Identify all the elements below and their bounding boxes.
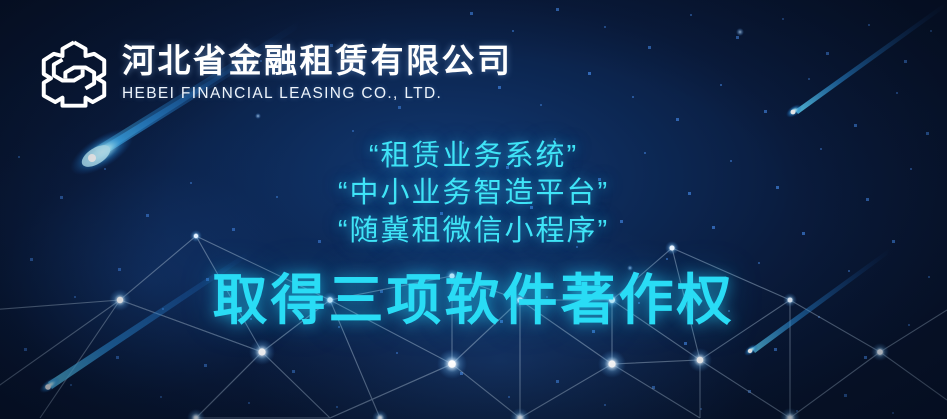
headline-block: “租赁业务系统” “中小业务智造平台” “随冀租微信小程序” 取得三项软件著作权 xyxy=(0,138,947,330)
promo-banner: 河北省金融租赁有限公司 HEBEI FINANCIAL LEASING CO.,… xyxy=(0,0,947,419)
product-line-2: “中小业务智造平台” xyxy=(0,175,947,212)
hexagonal-interlocking-s-logo-icon xyxy=(38,38,110,110)
page-title: 取得三项软件著作权 xyxy=(0,272,947,330)
brand-logo-block: 河北省金融租赁有限公司 HEBEI FINANCIAL LEASING CO.,… xyxy=(38,38,513,110)
company-name-cn: 河北省金融租赁有限公司 xyxy=(122,43,513,79)
product-line-1: “租赁业务系统” xyxy=(0,138,947,175)
company-name-en: HEBEI FINANCIAL LEASING CO., LTD. xyxy=(122,82,513,105)
product-line-3: “随冀租微信小程序” xyxy=(0,213,947,250)
